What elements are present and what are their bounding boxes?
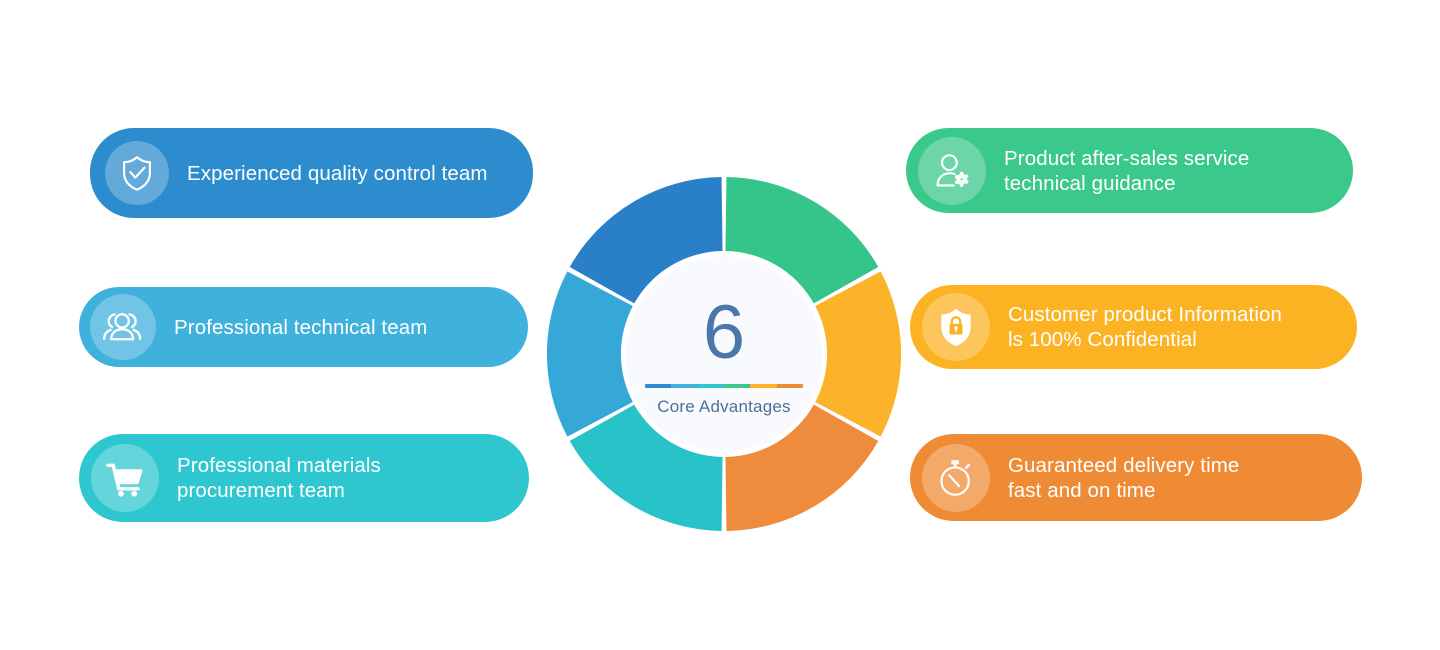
infographic-canvas: 6 Core Advantages Experienced quality co… — [0, 0, 1440, 650]
donut-segment-amber — [815, 271, 901, 436]
rule-segment-dark-blue — [645, 384, 671, 388]
advantage-label: Product after-sales service technical gu… — [1004, 146, 1249, 196]
donut-caption: Core Advantages — [657, 397, 790, 417]
rule-segment-amber — [750, 384, 776, 388]
shopping-cart-icon — [91, 444, 159, 512]
person-gear-icon — [918, 137, 986, 205]
rule-segment-orange — [777, 384, 803, 388]
stopwatch-icon — [922, 444, 990, 512]
advantage-count: 6 — [703, 297, 745, 369]
advantage-card-technical-team[interactable]: Professional technical team — [79, 287, 528, 367]
donut-center-label: 6 Core Advantages — [626, 256, 822, 452]
shield-check-icon — [105, 141, 169, 205]
advantage-label: Experienced quality control team — [187, 161, 488, 186]
core-advantages-donut-chart: 6 Core Advantages — [547, 177, 901, 531]
rule-segment-green — [724, 384, 750, 388]
advantage-label: Professional materials procurement team — [177, 453, 381, 503]
people-group-icon — [90, 294, 156, 360]
advantage-card-confidentiality[interactable]: Customer product Information ls 100% Con… — [910, 285, 1357, 369]
advantage-label: Guaranteed delivery time fast and on tim… — [1008, 453, 1239, 503]
rule-segment-light-blue — [671, 384, 697, 388]
color-rule — [645, 384, 803, 388]
rule-segment-teal — [698, 384, 724, 388]
shield-lock-icon — [922, 293, 990, 361]
advantage-card-after-sales-service[interactable]: Product after-sales service technical gu… — [906, 128, 1353, 213]
donut-segment-light-blue — [547, 271, 633, 436]
advantage-card-delivery-time[interactable]: Guaranteed delivery time fast and on tim… — [910, 434, 1362, 521]
advantage-card-quality-control[interactable]: Experienced quality control team — [90, 128, 533, 218]
advantage-card-materials-procurement[interactable]: Professional materials procurement team — [79, 434, 529, 522]
advantage-label: Customer product Information ls 100% Con… — [1008, 302, 1282, 352]
advantage-label: Professional technical team — [174, 315, 427, 340]
